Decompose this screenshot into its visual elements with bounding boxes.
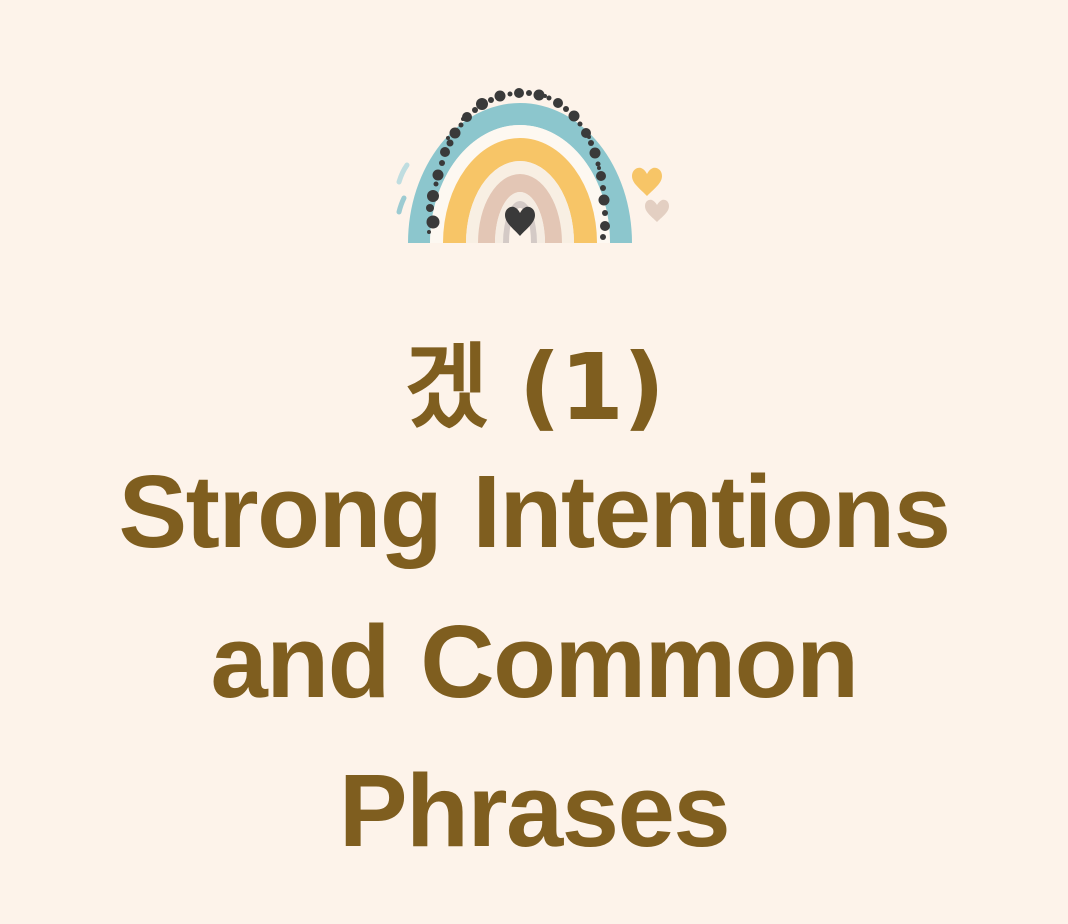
rainbow-svg	[0, 0, 1068, 300]
arc-cream	[466, 161, 574, 243]
korean-title: 겠 (1)	[0, 338, 1068, 437]
arc-dots	[426, 88, 610, 240]
arc-yellow	[443, 138, 597, 243]
rainbow-illustration	[0, 0, 1068, 300]
arc-teal	[408, 103, 632, 243]
title-block: 겠 (1) Strong Intentions and Common Phras…	[0, 338, 1068, 885]
arc-light-cream	[495, 192, 545, 243]
title-line-1: Strong Intentions	[0, 437, 1068, 586]
rainbow-left-fragments	[399, 165, 407, 212]
center-heart-icon	[505, 207, 535, 236]
arc-blush	[478, 174, 562, 243]
arc-white	[430, 125, 610, 243]
blush-heart-icon	[645, 200, 669, 222]
title-line-3: Phrases	[0, 736, 1068, 885]
title-line-2: and Common	[0, 587, 1068, 736]
slide-canvas: 겠 (1) Strong Intentions and Common Phras…	[0, 0, 1068, 924]
yellow-heart-icon	[632, 168, 662, 196]
arc-grey	[503, 201, 537, 243]
